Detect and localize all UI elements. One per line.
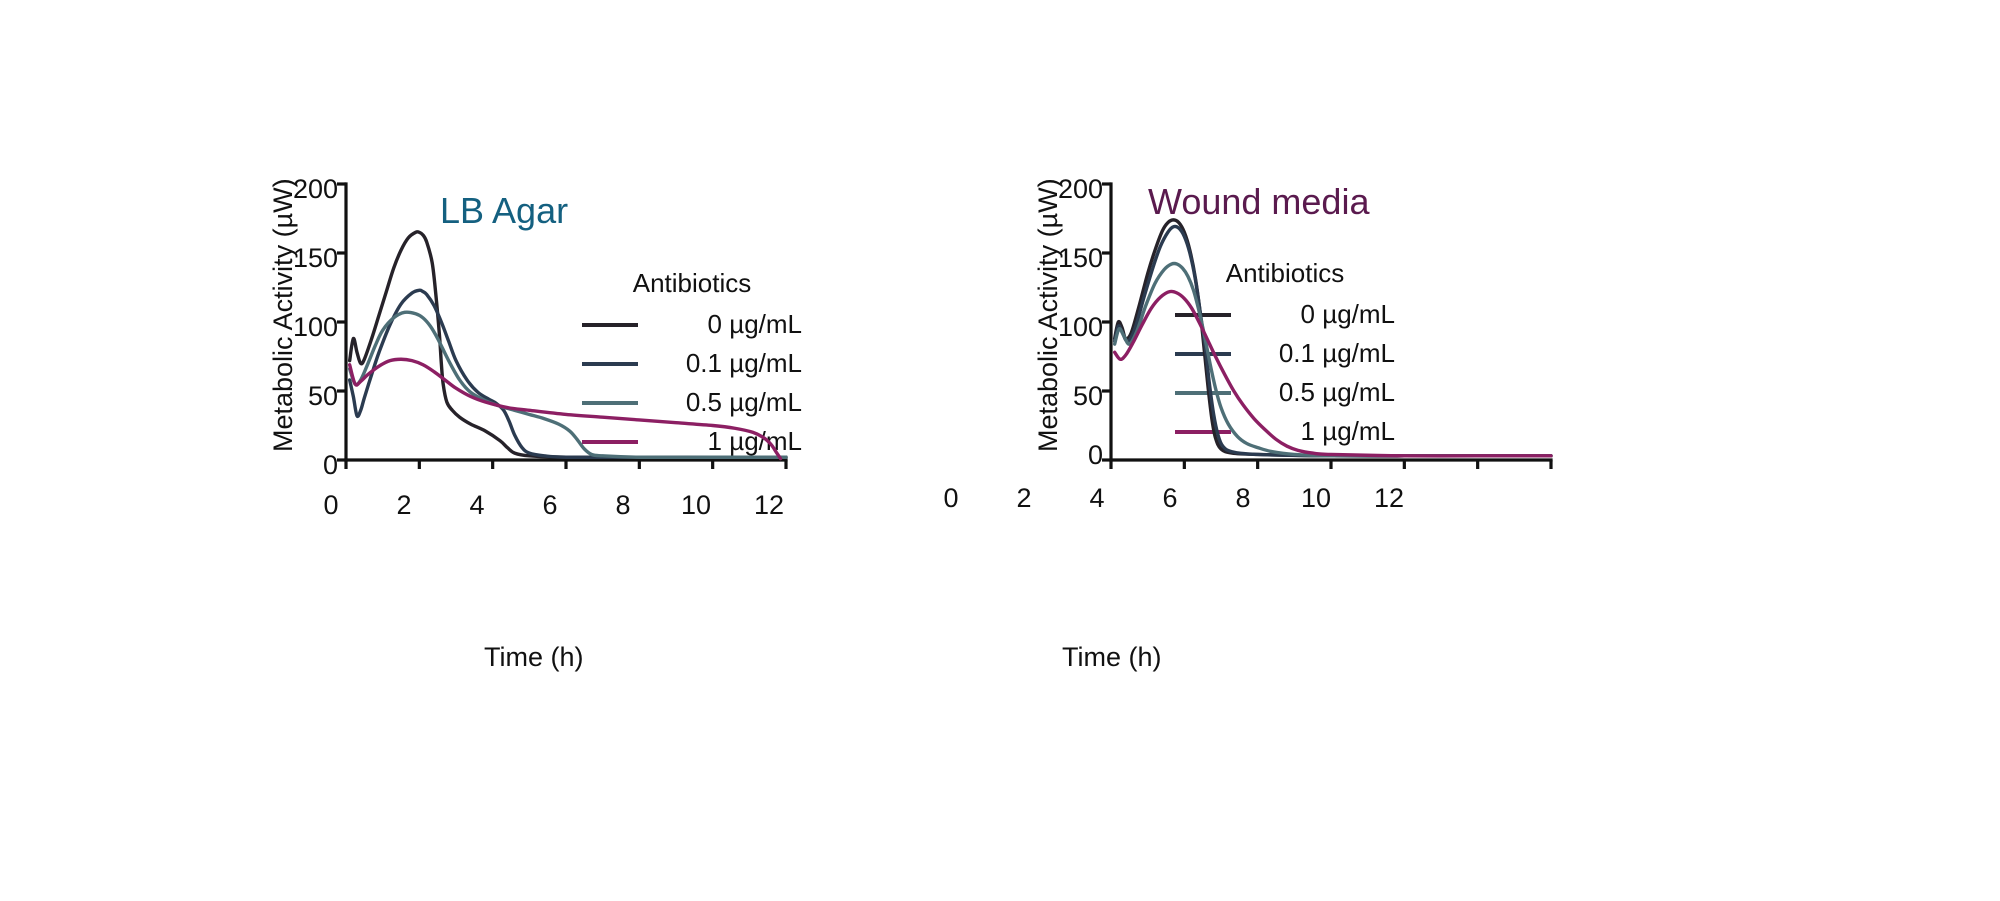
plot-area-lb-agar [330, 178, 850, 508]
x-axis-title: Time (h) [1062, 642, 1162, 673]
x-tick-2: 2 [998, 483, 1050, 514]
panel-lb-agar: LB Agar Metabolic Activity (µW) Time (h)… [0, 0, 1000, 901]
x-tick-0: 0 [925, 483, 977, 514]
panel-wound-media: Wound media Metabolic Activity (µW) Time… [1000, 0, 2000, 901]
plot-area-wound-media [1095, 178, 1615, 508]
x-axis-title: Time (h) [484, 642, 584, 673]
figure-root: LB Agar Metabolic Activity (µW) Time (h)… [0, 0, 2000, 901]
